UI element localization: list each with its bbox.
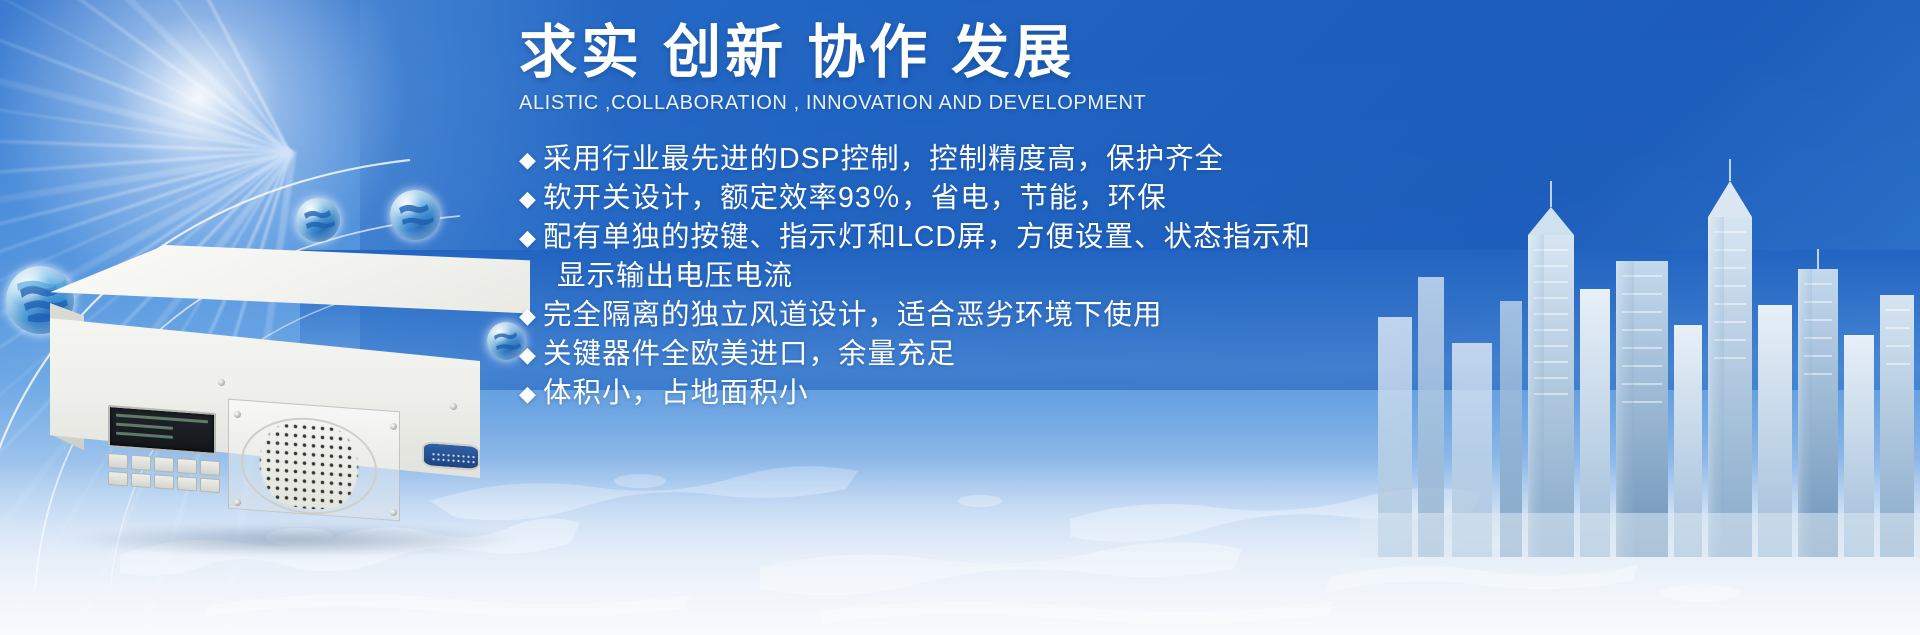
lcd-line-2 <box>116 423 173 430</box>
bullet-diamond-icon: ◆ <box>519 296 543 335</box>
db9-pins <box>431 452 475 465</box>
list-item-text: 完全隔离的独立风道设计，适合恶劣环境下使用 <box>543 296 1163 335</box>
list-item-text: 配有单独的按键、指示灯和LCD屏，方便设置、状态指示和 <box>543 218 1311 257</box>
headline: 求实 创新 协作 发展 <box>519 24 1075 82</box>
keypad-key <box>177 475 197 491</box>
bullet-diamond-icon: ◆ <box>519 335 543 374</box>
panel-screw <box>450 403 457 410</box>
db9-serial-port <box>422 441 480 471</box>
panel-screw <box>234 411 241 418</box>
keypad-key <box>200 477 220 493</box>
panel-screw <box>390 509 397 516</box>
globe-mid-landmass <box>296 198 340 242</box>
globe-mid <box>296 198 340 242</box>
marketing-banner: 求实 创新 协作 发展 ALISTIC ,COLLABORATION , INN… <box>0 0 1920 635</box>
feature-bullet-list: ◆ 采用行业最先进的DSP控制，控制精度高，保护齐全 ◆ 软开关设计，额定效率9… <box>519 140 1849 413</box>
list-item: ◆ 体积小，占地面积小 <box>519 374 1849 413</box>
lcd-display <box>108 405 216 455</box>
globe-right <box>390 190 440 240</box>
keypad-key <box>131 472 151 488</box>
keypad-key <box>177 458 197 474</box>
list-item: ◆ 关键器件全欧美进口，余量充足 <box>519 335 1849 374</box>
keypad-key <box>154 456 174 472</box>
keypad-key <box>108 453 128 469</box>
bullet-diamond-icon: ◆ <box>519 140 543 179</box>
keypad-key <box>154 474 174 490</box>
bullet-diamond-icon: ◆ <box>519 374 543 413</box>
product-device <box>50 245 530 545</box>
lcd-line-1 <box>116 414 208 424</box>
keypad-key <box>131 455 151 471</box>
panel-screw <box>234 499 241 506</box>
list-item-continuation: 显示输出电压电流 <box>519 257 1849 296</box>
list-item-text: 关键器件全欧美进口，余量充足 <box>543 335 956 374</box>
list-item-text: 软开关设计，额定效率93％，省电，节能，环保 <box>543 179 1167 218</box>
panel-screw <box>390 423 397 430</box>
lcd-line-3 <box>116 432 173 439</box>
list-item: ◆ 完全隔离的独立风道设计，适合恶劣环境下使用 <box>519 296 1849 335</box>
panel-screw <box>218 379 225 386</box>
globe-right-landmass <box>390 190 440 240</box>
list-item-text: 体积小，占地面积小 <box>543 374 809 413</box>
bullet-diamond-icon: ◆ <box>519 179 543 218</box>
list-item: ◆ 软开关设计，额定效率93％，省电，节能，环保 <box>519 179 1849 218</box>
list-item: ◆ 采用行业最先进的DSP控制，控制精度高，保护齐全 <box>519 140 1849 179</box>
list-item-text: 采用行业最先进的DSP控制，控制精度高，保护齐全 <box>543 140 1224 179</box>
control-keypad <box>108 453 220 493</box>
keypad-key <box>108 470 128 486</box>
keypad-key <box>200 460 220 476</box>
list-item: ◆ 配有单独的按键、指示灯和LCD屏，方便设置、状态指示和 <box>519 218 1849 257</box>
device-shadow <box>70 523 520 557</box>
bullet-diamond-icon: ◆ <box>519 218 543 257</box>
subheadline: ALISTIC ,COLLABORATION , INNOVATION AND … <box>519 92 1146 115</box>
